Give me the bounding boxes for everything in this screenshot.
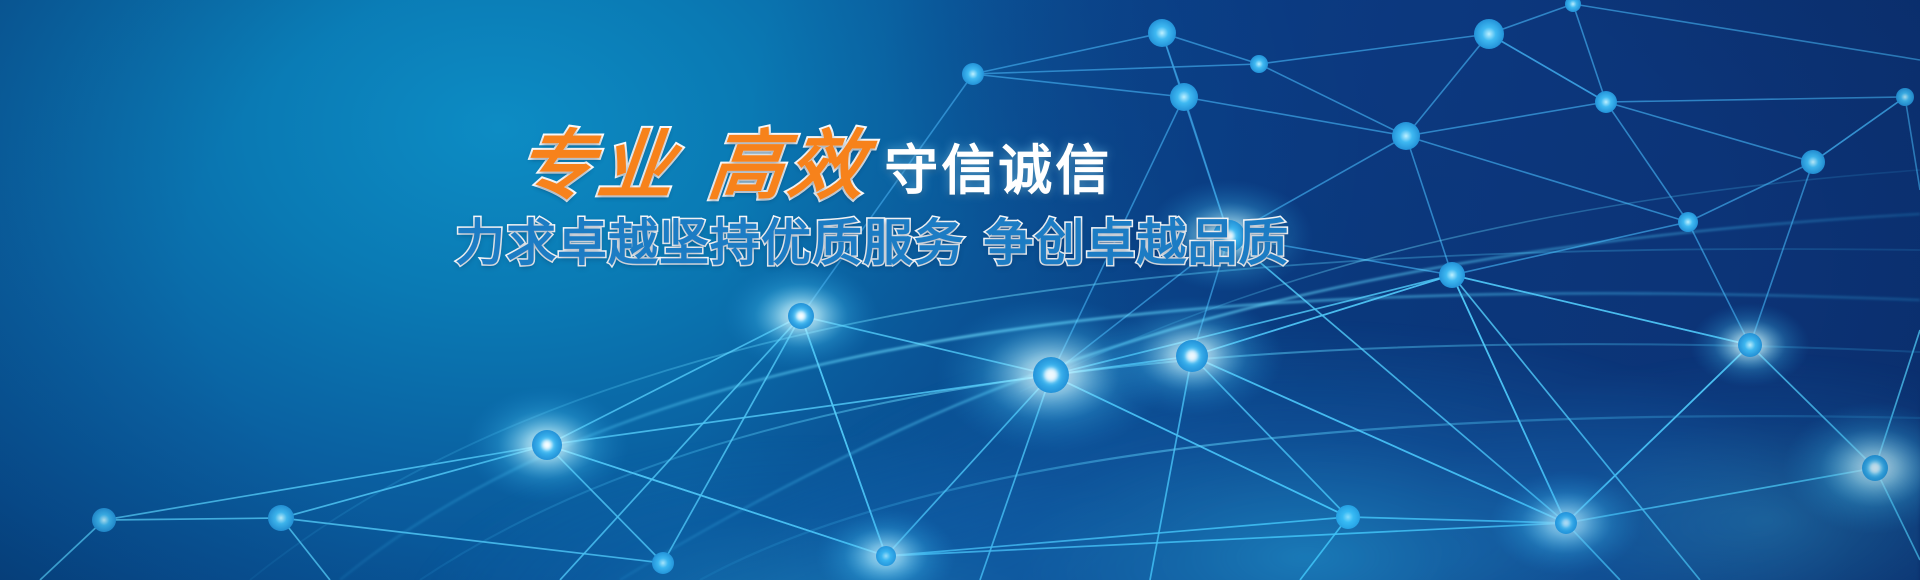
headline: 专业 高效 守信诚信 <box>455 128 1175 204</box>
banner-copy: 专业 高效 守信诚信 力求卓越坚持优质服务 争创卓越品质 <box>455 128 1175 271</box>
headline-plain-text: 守信诚信 <box>884 144 1112 204</box>
headline-accent-text: 专业 高效 <box>514 128 872 204</box>
hero-banner: 专业 高效 守信诚信 力求卓越坚持优质服务 争创卓越品质 <box>0 0 1920 580</box>
background-vignette <box>0 0 1920 580</box>
subheadline: 力求卓越坚持优质服务 争创卓越品质 <box>455 216 1175 271</box>
